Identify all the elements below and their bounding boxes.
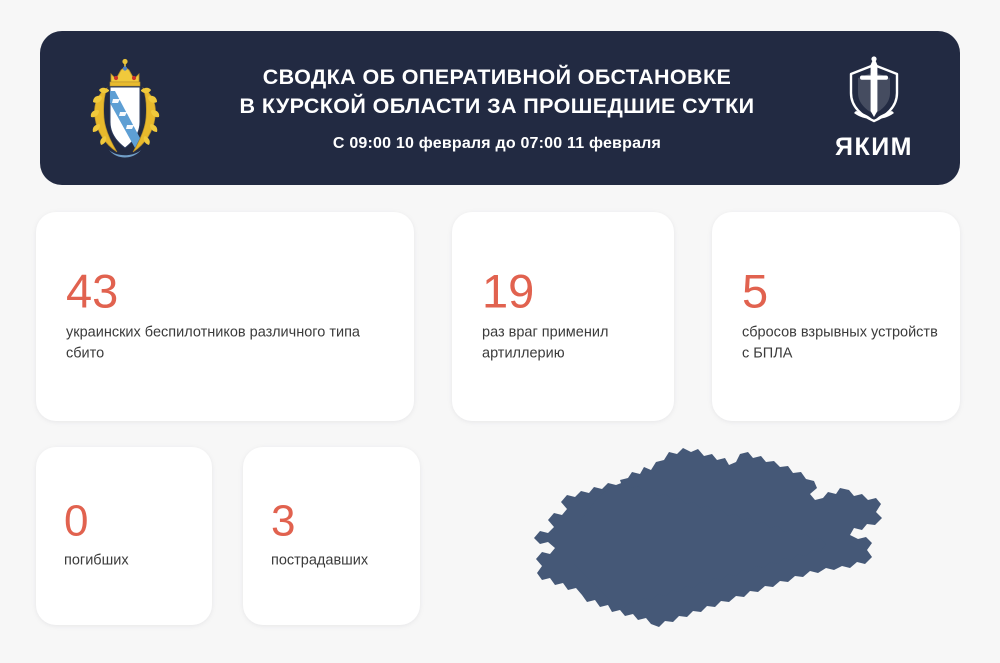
stat-label: сбросов взрывных устройств с БПЛА [742,322,938,365]
stat-value: 3 [271,500,406,543]
stat-card-artillery: 19 раз враг применил артиллерию [452,212,674,421]
stat-label: украинских беспилотников различного типа… [66,322,392,365]
stat-card-drones: 43 украинских беспилотников различного т… [36,212,414,421]
header-banner: СВОДКА ОБ ОПЕРАТИВНОЙ ОБСТАНОВКЕ В КУРСК… [40,31,960,185]
stat-card-injured: 3 пострадавших [243,447,420,625]
shield-sword-icon [842,55,906,131]
yakim-logo: ЯКИМ [814,55,934,162]
stat-value: 43 [66,268,392,314]
stat-label: пострадавших [271,551,406,572]
header-text-block: СВОДКА ОБ ОПЕРАТИВНОЙ ОБСТАНОВКЕ В КУРСК… [180,63,814,152]
period-subtitle: С 09:00 10 февраля до 07:00 11 февраля [186,135,808,153]
stat-value: 5 [742,268,938,314]
page-title-line1: СВОДКА ОБ ОПЕРАТИВНОЙ ОБСТАНОВКЕ [186,63,808,92]
kursk-oblast-coat-of-arms-icon [83,54,167,162]
stat-label: раз враг применил артиллерию [482,322,652,365]
stat-card-content: 5 сбросов взрывных устройств с БПЛА [742,268,938,365]
stat-label: погибших [64,551,198,572]
stat-card-content: 3 пострадавших [271,500,406,573]
stat-card-content: 0 погибших [64,500,198,573]
coat-of-arms-emblem [70,54,180,162]
stat-card-content: 43 украинских беспилотников различного т… [66,268,392,365]
stat-card-explosive-drops: 5 сбросов взрывных устройств с БПЛА [712,212,960,421]
stat-card-content: 19 раз враг применил артиллерию [482,268,652,365]
kursk-oblast-map-icon [520,440,920,650]
logo-wordmark: ЯКИМ [835,133,913,162]
stat-card-killed: 0 погибших [36,447,212,625]
infographic-page: СВОДКА ОБ ОПЕРАТИВНОЙ ОБСТАНОВКЕ В КУРСК… [0,0,1000,663]
stat-value: 0 [64,500,198,543]
kursk-oblast-map [520,440,920,650]
page-title-line2: В КУРСКОЙ ОБЛАСТИ ЗА ПРОШЕДШИЕ СУТКИ [186,92,808,121]
stat-value: 19 [482,268,652,314]
